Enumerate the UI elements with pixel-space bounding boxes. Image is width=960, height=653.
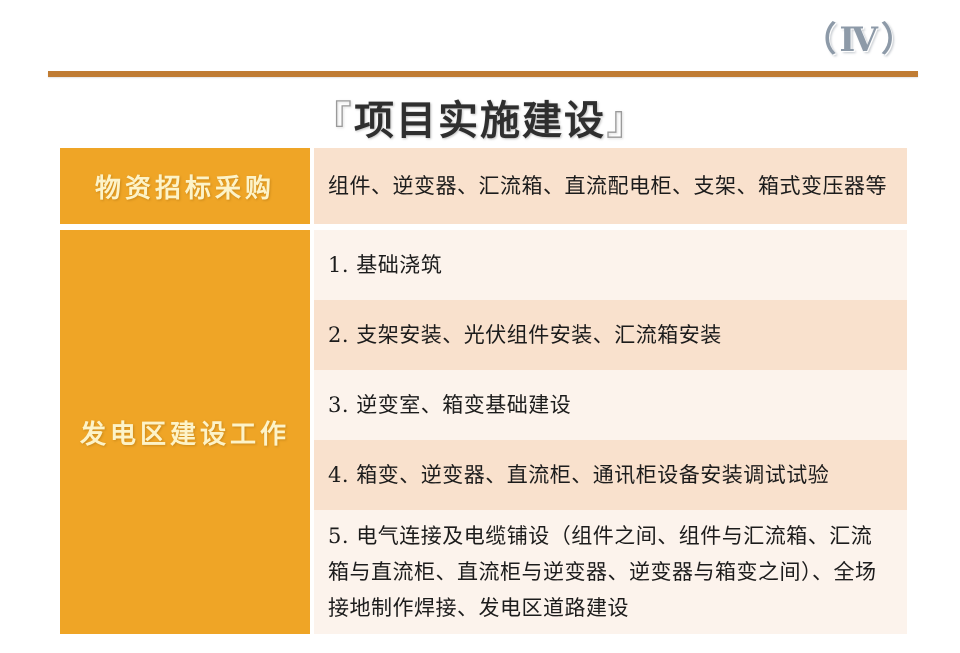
table-row-text: 4. 箱变、逆变器、直流柜、通讯柜设备安装调试试验: [328, 458, 893, 492]
table-row-text: 组件、逆变器、汇流箱、直流配电柜、支架、箱式变压器等: [328, 169, 893, 203]
slide-root: （Ⅳ） 『项目实施建设』 物资招标采购 发电区建设工作 组件、逆变器、汇流箱、直…: [0, 0, 960, 653]
table-row-text: 2. 支架安装、光伏组件安装、汇流箱安装: [328, 318, 893, 352]
table-row-text: 3. 逆变室、箱变基础建设: [328, 388, 893, 422]
table-rows-column: 组件、逆变器、汇流箱、直流配电柜、支架、箱式变压器等 1. 基础浇筑 2. 支架…: [314, 148, 907, 634]
title-text: 项目实施建设: [354, 97, 606, 144]
title-close-bracket: 』: [606, 98, 648, 144]
table-row: 1. 基础浇筑: [314, 230, 907, 300]
title-open-bracket: 『: [312, 98, 354, 144]
table-label-procurement: 物资招标采购: [60, 148, 310, 224]
table-row: 组件、逆变器、汇流箱、直流配电柜、支架、箱式变压器等: [314, 148, 907, 224]
table-row: 4. 箱变、逆变器、直流柜、通讯柜设备安装调试试验: [314, 440, 907, 510]
section-number-label: （Ⅳ）: [802, 12, 918, 61]
page-title: 『项目实施建设』: [0, 88, 960, 146]
table-row: 2. 支架安装、光伏组件安装、汇流箱安装: [314, 300, 907, 370]
header-divider-rule: [48, 71, 918, 77]
table-label-column: 物资招标采购 发电区建设工作: [60, 148, 310, 634]
content-table: 物资招标采购 发电区建设工作 组件、逆变器、汇流箱、直流配电柜、支架、箱式变压器…: [60, 148, 907, 634]
table-row: 3. 逆变室、箱变基础建设: [314, 370, 907, 440]
table-row: 5. 电气连接及电缆铺设（组件之间、组件与汇流箱、汇流箱与直流柜、直流柜与逆变器…: [314, 510, 907, 634]
table-row-text: 1. 基础浇筑: [328, 248, 893, 282]
table-label-construction: 发电区建设工作: [60, 230, 310, 634]
table-row-text: 5. 电气连接及电缆铺设（组件之间、组件与汇流箱、汇流箱与直流柜、直流柜与逆变器…: [328, 518, 893, 626]
